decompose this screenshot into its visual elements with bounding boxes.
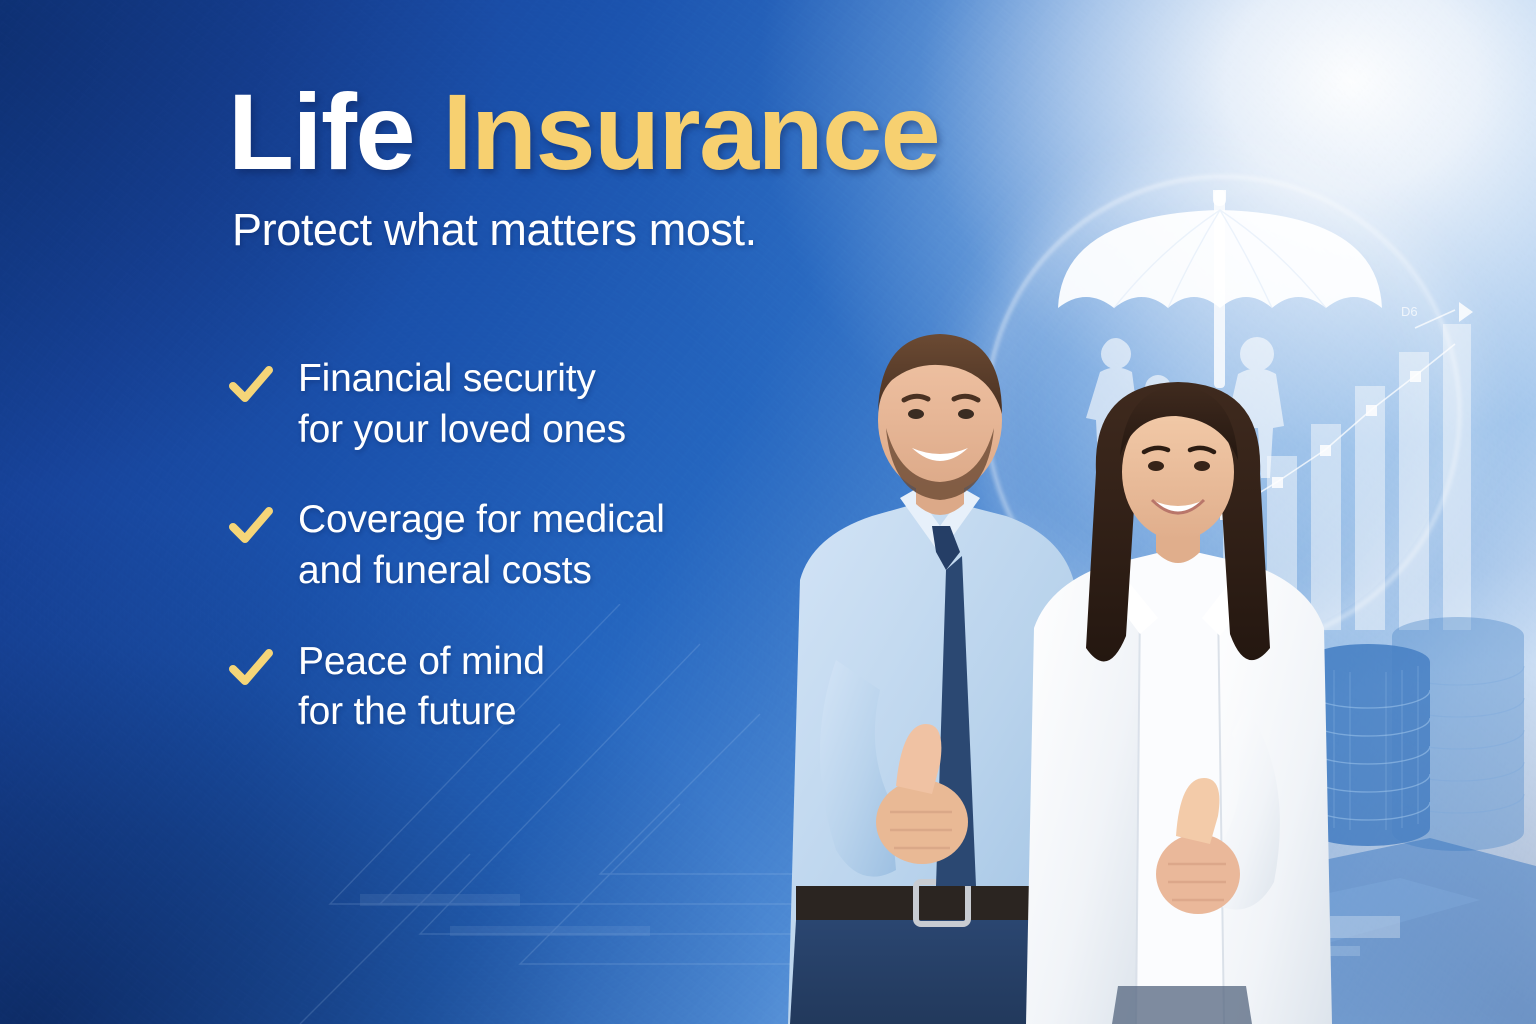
benefits-list: Financial security for your loved ones C… [228,354,928,738]
woman-figure [1026,382,1332,1024]
checkmark-icon [228,645,274,691]
benefit-text-3: Peace of mind for the future [298,637,545,738]
list-item: Coverage for medical and funeral costs [228,495,928,596]
banner-content: Life Insurance Protect what matters most… [228,78,928,738]
checkmark-icon [228,362,274,408]
subtitle: Protect what matters most. [232,204,928,256]
benefit-text-2: Coverage for medical and funeral costs [298,495,665,596]
list-item: Peace of mind for the future [228,637,928,738]
list-item: Financial security for your loved ones [228,354,928,455]
page-title: Life Insurance [228,78,928,186]
checkmark-icon [228,503,274,549]
benefit-text-1: Financial security for your loved ones [298,354,626,455]
headline-word-insurance: Insurance [443,71,940,192]
life-insurance-banner: D6 [0,0,1536,1024]
headline-word-life: Life [228,71,414,192]
